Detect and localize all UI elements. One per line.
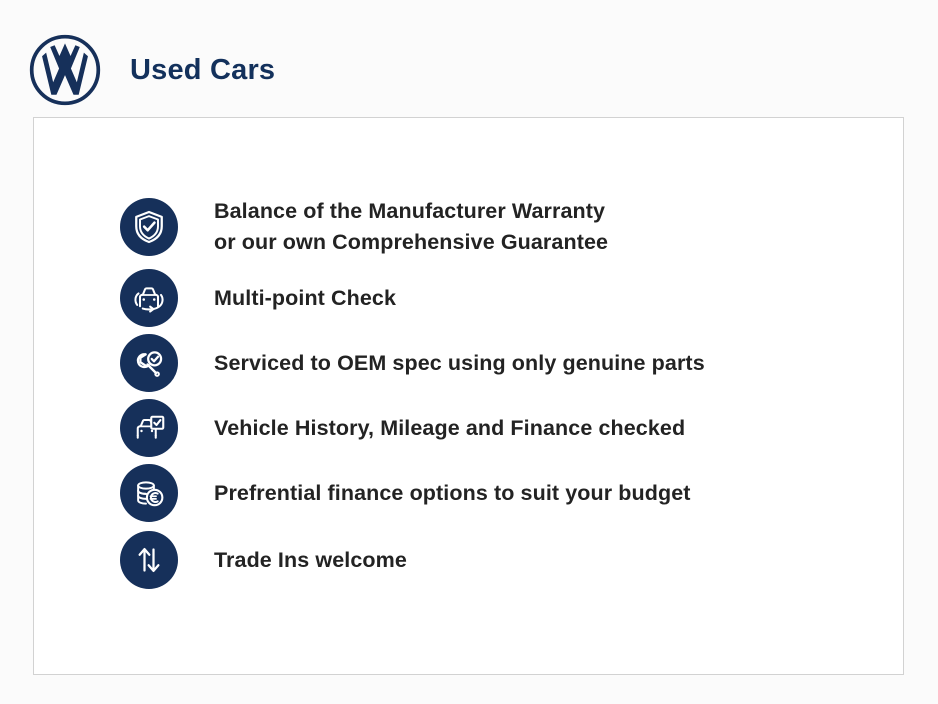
list-item: Serviced to OEM spec using only genuine … [120,334,860,392]
car-multipoint-check-icon [120,269,178,327]
brand-header: Used Cars [28,31,275,109]
list-item-label: Serviced to OEM spec using only genuine … [214,348,705,379]
list-item-label: Balance of the Manufacturer Warranty or … [214,196,608,258]
list-item-label: Vehicle History, Mileage and Finance che… [214,413,685,444]
trade-in-arrows-icon [120,531,178,589]
list-item: Prefrential finance options to suit your… [120,464,860,522]
list-item: Balance of the Manufacturer Warranty or … [120,196,860,258]
list-item: Multi-point Check [120,269,860,327]
list-item: Vehicle History, Mileage and Finance che… [120,399,860,457]
vw-roundel-logo-icon [28,33,102,107]
car-document-check-icon [120,399,178,457]
list-item-label: Trade Ins welcome [214,545,407,576]
list-item-label: Multi-point Check [214,283,396,314]
used-cars-promo-page: Used Cars Balance of the Manufacturer Wa… [0,0,938,704]
list-item: Trade Ins welcome [120,531,860,589]
page-title: Used Cars [130,54,275,87]
features-panel: Balance of the Manufacturer Warranty or … [33,117,904,675]
coins-euro-icon [120,464,178,522]
shield-check-icon [120,198,178,256]
list-item-label: Prefrential finance options to suit your… [214,478,691,509]
feature-list: Balance of the Manufacturer Warranty or … [120,196,860,589]
wrench-check-icon [120,334,178,392]
